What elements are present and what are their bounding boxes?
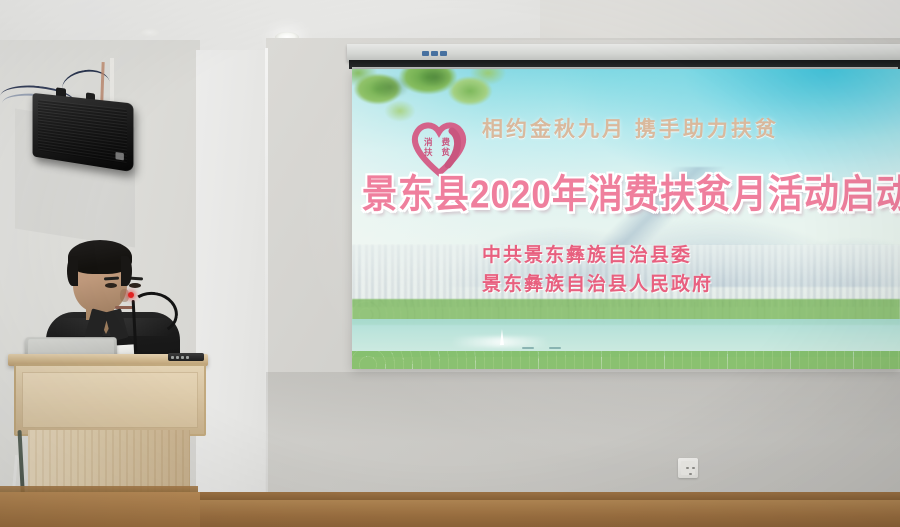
presenter-eye-left [105,283,117,288]
banner-boat-icon [522,347,534,349]
screen-housing-logo-icon [422,50,468,57]
presenter-eye-right [129,283,141,288]
banner-subtitle: 相约金秋九月 携手助力扶贫 [482,117,779,143]
presentation-room-photo: 消 费 扶 贫 相约金秋九月 携手助力扶贫 景东县2020年消费扶贫月活动启动仪… [0,0,900,527]
banner-foreground-shrubs [352,351,900,369]
ceiling-right-plane [540,0,900,38]
speaker-grill [38,99,127,164]
logo-word: 消 [420,137,437,147]
wall-power-outlet[interactable] [678,458,698,478]
outlet-faceplate [681,461,695,475]
outlet-slot [692,467,695,469]
banner-lake-reflection [451,337,550,347]
banner-main-title: 景东县2020年消费扶贫月活动启动仪式 [362,173,900,218]
microphone-led-indicator [128,292,134,298]
logo-words: 消 费 扶 贫 [420,137,454,157]
banner-organizations: 中共景东彝族自治县委 景东彝族自治县人民政府 [482,241,713,299]
outlet-slot [689,473,692,475]
podium-front-panel [14,364,206,436]
podium-control-panel[interactable] [168,353,204,361]
speaker-badge [115,152,123,160]
presenter-hair-right [121,256,132,286]
podium-front-inset [22,372,198,428]
organization-line: 景东彝族自治县人民政府 [482,270,713,299]
organization-line: 中共景东彝族自治县委 [482,241,713,270]
ceiling-downlight-secondary-icon [140,28,160,37]
projected-banner: 消 费 扶 贫 相约金秋九月 携手助力扶贫 景东县2020年消费扶贫月活动启动仪… [352,69,900,369]
banner-boat-icon [549,347,561,349]
wooden-floor-left [0,492,200,527]
logo-word: 费 [438,137,455,147]
wall-column [196,50,268,527]
logo-word: 扶 [420,147,437,157]
outlet-slot [686,467,689,469]
presenter-brow-left [104,276,119,280]
logo-word: 贫 [438,147,455,157]
presenter-hair-left [67,256,78,286]
